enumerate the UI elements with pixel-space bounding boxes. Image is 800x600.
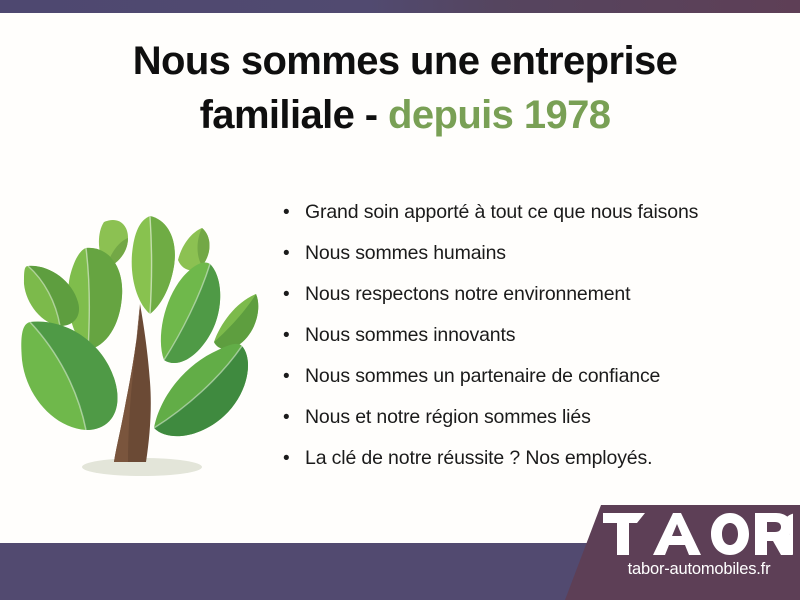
- bullet-marker-icon: •: [283, 397, 305, 438]
- slide-canvas: Nous sommes une entreprise familiale - d…: [0, 0, 800, 600]
- list-item: • Nous sommes humains: [283, 233, 783, 274]
- page-title-line1: Nous sommes une entreprise: [133, 39, 678, 83]
- tabor-logo-wordmark: [603, 513, 793, 557]
- list-item-label: Grand soin apporté à tout ce que nous fa…: [305, 192, 698, 233]
- bullet-marker-icon: •: [283, 192, 305, 233]
- page-title-line2: familiale -: [200, 93, 388, 137]
- tree-illustration: [14, 186, 264, 481]
- list-item-label: Nous sommes humains: [305, 233, 506, 274]
- list-item: • Nous respectons notre environnement: [283, 274, 783, 315]
- list-item: • Nous sommes innovants: [283, 315, 783, 356]
- page-title: Nous sommes une entreprise familiale - d…: [60, 34, 750, 142]
- list-item-label: Nous respectons notre environnement: [305, 274, 630, 315]
- list-item-label: Nous sommes innovants: [305, 315, 515, 356]
- leaf-top-center: [132, 216, 175, 314]
- list-item: • Grand soin apporté à tout ce que nous …: [283, 192, 783, 233]
- bullet-marker-icon: •: [283, 438, 305, 479]
- bullet-marker-icon: •: [283, 233, 305, 274]
- top-accent-bar: [0, 0, 800, 13]
- bullet-marker-icon: •: [283, 315, 305, 356]
- list-item-label: Nous sommes un partenaire de confiance: [305, 356, 660, 397]
- logo-url-text: tabor-automobiles.fr: [603, 560, 795, 579]
- list-item: • La clé de notre réussite ? Nos employé…: [283, 438, 783, 479]
- leaf-right-small: [214, 294, 258, 349]
- bullet-marker-icon: •: [283, 274, 305, 315]
- list-item-label: La clé de notre réussite ? Nos employés.: [305, 438, 652, 479]
- page-title-accent: depuis 1978: [388, 93, 610, 137]
- list-item: • Nous sommes un partenaire de confiance: [283, 356, 783, 397]
- bullet-list: • Grand soin apporté à tout ce que nous …: [283, 192, 783, 479]
- bullet-marker-icon: •: [283, 356, 305, 397]
- list-item-label: Nous et notre région sommes liés: [305, 397, 591, 438]
- list-item: • Nous et notre région sommes liés: [283, 397, 783, 438]
